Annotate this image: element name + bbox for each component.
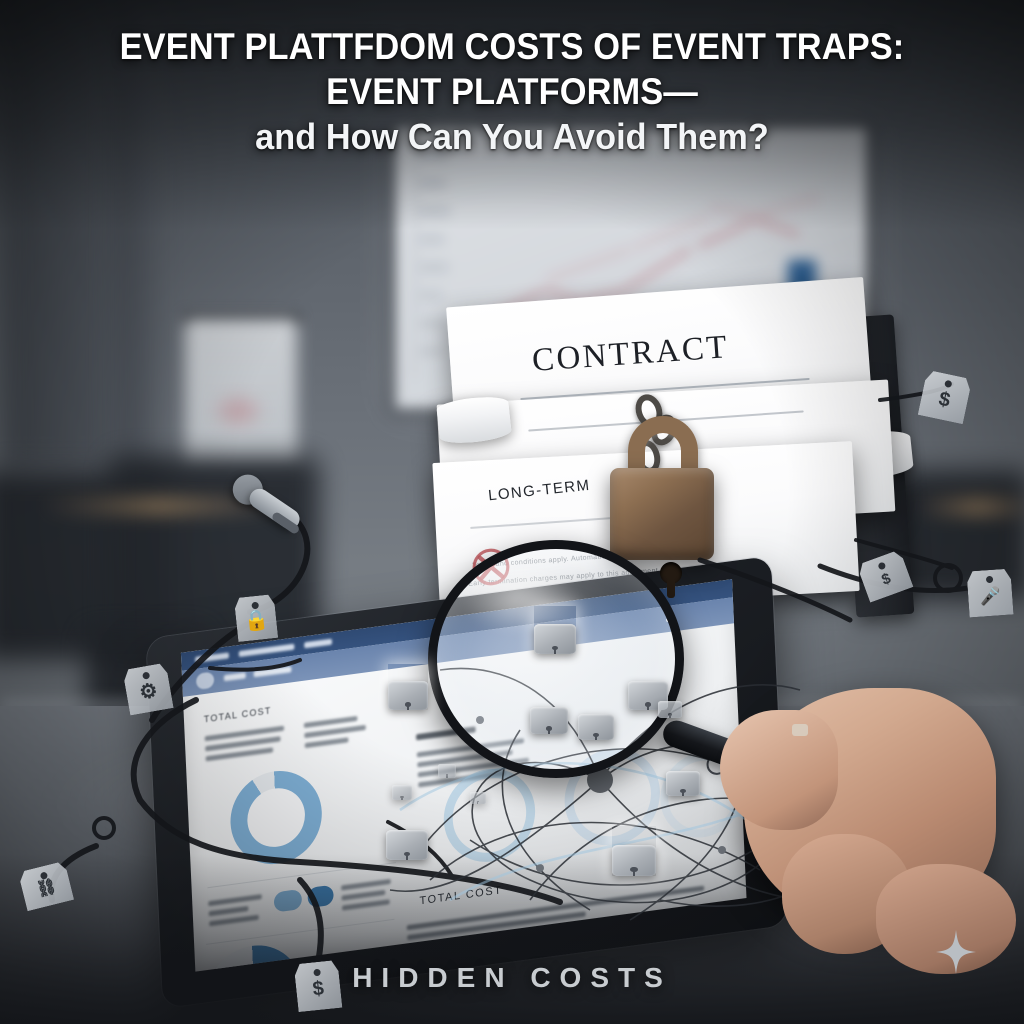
stat-pill bbox=[274, 889, 303, 913]
table-edge bbox=[918, 498, 1024, 516]
app-logo-icon bbox=[196, 672, 215, 690]
wall-panel-left bbox=[0, 0, 120, 470]
donut-hole bbox=[246, 785, 306, 851]
brand-label: HIDDEN COSTS bbox=[0, 962, 1024, 994]
microphone-tag-icon: 🎤 bbox=[966, 569, 1013, 618]
nav-text bbox=[239, 644, 295, 657]
chart-y-tick bbox=[420, 292, 442, 299]
padlock-icon bbox=[530, 690, 568, 734]
chart-trend-line bbox=[697, 218, 755, 249]
lock-tag-icon: 🔒 bbox=[234, 594, 278, 642]
legend-text bbox=[342, 890, 386, 901]
legend-text bbox=[209, 915, 259, 927]
chart-y-tick bbox=[420, 180, 446, 187]
padlock-icon bbox=[578, 698, 614, 740]
keyhole-icon bbox=[405, 702, 411, 707]
keyhole-icon bbox=[645, 702, 651, 707]
padlock-body-icon bbox=[388, 681, 428, 710]
dollar-glyph: $ bbox=[937, 383, 953, 411]
tablet-section-title: TOTAL COST bbox=[204, 705, 272, 724]
ring bbox=[792, 724, 808, 736]
flipchart bbox=[185, 318, 297, 468]
chart-y-tick bbox=[420, 236, 444, 243]
padlock-body-icon bbox=[578, 714, 614, 740]
keyhole-icon bbox=[477, 801, 480, 803]
toolbar-item[interactable] bbox=[254, 666, 292, 677]
mic-glyph: 🎤 bbox=[979, 581, 1002, 605]
chart-trend-line bbox=[623, 247, 692, 293]
flipchart-marking bbox=[218, 398, 258, 424]
sparkle-icon bbox=[936, 930, 976, 974]
padlock-icon bbox=[388, 664, 428, 710]
keyhole-icon bbox=[680, 789, 685, 793]
donut-chart-upper bbox=[228, 765, 323, 869]
legend-text bbox=[341, 879, 391, 891]
padlock-body-icon bbox=[470, 792, 486, 804]
microphone-grill bbox=[271, 511, 301, 535]
hand-holding-magnifier bbox=[726, 664, 1024, 974]
chart-y-tick bbox=[420, 320, 448, 327]
keyhole-icon bbox=[546, 726, 552, 730]
chart-y-tick bbox=[420, 208, 450, 215]
padlock-icon bbox=[470, 784, 486, 804]
padlock-icon bbox=[386, 812, 428, 860]
chart-y-tick bbox=[420, 152, 450, 159]
body-text bbox=[304, 725, 366, 738]
gear-tag-icon: ⚙ bbox=[122, 663, 173, 716]
padlock-body-icon bbox=[534, 624, 576, 654]
chart-y-axis bbox=[414, 142, 416, 378]
keyhole-icon bbox=[593, 733, 599, 737]
tablet-kpi-label: TOTAL COST bbox=[419, 884, 502, 907]
nav-text bbox=[304, 639, 332, 649]
padlock-icon bbox=[658, 690, 682, 718]
padlock-body-icon bbox=[530, 707, 568, 734]
padlock-icon bbox=[666, 756, 700, 796]
legend-text bbox=[209, 906, 249, 916]
padlock-icon bbox=[612, 826, 656, 876]
chart-trend-line bbox=[755, 218, 800, 237]
padlock-icon bbox=[534, 606, 576, 654]
chart-y-tick bbox=[420, 348, 444, 355]
keyhole-icon bbox=[400, 796, 403, 798]
padlock-body-icon bbox=[612, 845, 656, 876]
gear-glyph: ⚙ bbox=[137, 675, 159, 704]
body-text bbox=[305, 737, 349, 748]
chart-trend-line bbox=[710, 206, 766, 218]
stat-pill bbox=[307, 885, 334, 908]
padlock-body-icon bbox=[386, 830, 428, 860]
padlock-body-icon bbox=[392, 785, 412, 800]
magnifier-lens[interactable] bbox=[428, 540, 684, 778]
legend-text bbox=[208, 894, 262, 906]
keyhole-icon bbox=[404, 852, 411, 857]
chart-y-tick bbox=[420, 264, 448, 271]
rusty-padlock bbox=[600, 410, 720, 560]
chart-trend-line bbox=[545, 247, 631, 282]
toolbar-item[interactable] bbox=[224, 672, 246, 681]
keyhole-icon bbox=[668, 713, 672, 716]
legend-text bbox=[342, 899, 390, 910]
wall-column bbox=[112, 0, 160, 470]
padlock-body-icon bbox=[658, 701, 682, 718]
keyhole-icon bbox=[552, 646, 559, 651]
padlock-icon bbox=[438, 756, 456, 778]
padlock-icon bbox=[392, 776, 412, 800]
padlock-body-icon bbox=[666, 771, 700, 796]
thumb bbox=[720, 710, 838, 830]
dollar-tag-icon: $ bbox=[918, 370, 973, 425]
poster-canvas: CONTRACT LONG-TERM Terms and conditions … bbox=[0, 0, 1024, 1024]
nav-text bbox=[195, 652, 229, 663]
chart-trend-line bbox=[761, 196, 820, 216]
keyhole-icon bbox=[630, 867, 637, 872]
keyhole-icon bbox=[446, 774, 449, 776]
padlock-body-icon bbox=[438, 764, 456, 778]
